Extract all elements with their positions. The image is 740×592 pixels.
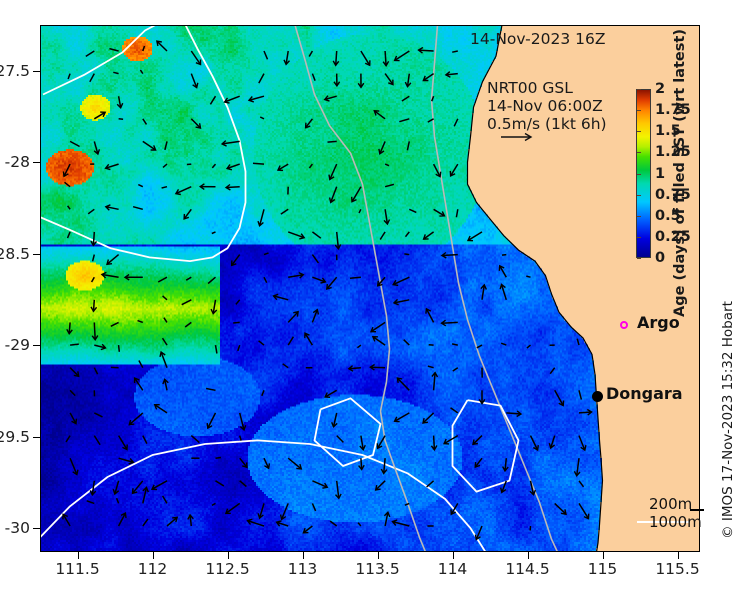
x-tick-label: 113 [288,560,318,578]
colorbar-tick [637,258,641,259]
date-stamp-label: 14-Nov-2023 16Z [470,30,605,48]
product-time-label: 14-Nov 06:00Z [487,97,603,115]
x-tick [228,552,229,559]
y-tick [33,162,40,163]
y-tick [33,437,40,438]
y-tick-label: -28 [5,153,30,171]
colorbar-tick [637,195,641,196]
figure-canvas: 14-Nov-2023 16Z NRT00 GSL 14-Nov 06:00Z … [0,0,740,592]
x-tick [78,552,79,559]
colorbar-tick [637,131,641,132]
x-tick-label: 112 [138,560,168,578]
colorbar-tick [637,89,641,90]
x-tick-label: 114 [438,560,468,578]
colorbar-title: Age (days) of filled SST (wrt latest) [672,29,688,317]
colorbar-tick [637,110,641,111]
colorbar-tick [637,152,641,153]
colorbar-tick [637,216,641,217]
dongara-marker-icon [592,391,603,402]
x-tick-label: 114.5 [505,560,549,578]
y-tick [33,254,40,255]
colorbar-tick [637,237,641,238]
y-tick [33,528,40,529]
dongara-legend-label: Dongara [606,384,683,403]
x-tick [603,552,604,559]
depth-200m-label: 200m [649,495,692,513]
copyright-credit: © IMOS 17-Nov-2023 15:32 Hobart [720,301,736,539]
y-tick-label: -28.5 [0,245,30,263]
y-tick-label: -27.5 [0,62,30,80]
y-tick-label: -29 [5,336,30,354]
y-tick-label: -30 [5,519,30,537]
x-tick [303,552,304,559]
y-tick [33,71,40,72]
argo-legend-label: Argo [637,313,680,332]
x-tick-label: 115 [588,560,618,578]
y-tick-label: -29.5 [0,428,30,446]
x-tick-label: 112.5 [205,560,249,578]
x-tick [378,552,379,559]
x-tick-label: 111.5 [55,560,99,578]
x-tick-label: 113.5 [355,560,399,578]
colorbar-tick [637,174,641,175]
right-arrow-icon [500,132,534,142]
colorbar-tick-label: 2 [655,81,665,97]
product-name-label: NRT00 GSL [487,79,573,97]
vector-scale-label: 0.5m/s (1kt 6h) [487,115,607,133]
colorbar-tick-label: 0 [655,250,665,266]
x-tick [153,552,154,559]
depth-1000m-line-icon [690,509,704,511]
argo-marker-icon [620,321,628,329]
depth-1000m-label: 1000m [649,513,702,531]
x-tick-label: 115.5 [655,560,699,578]
y-tick [33,345,40,346]
colorbar-tick-label: 1 [655,166,665,182]
x-tick [678,552,679,559]
x-tick [528,552,529,559]
x-tick [453,552,454,559]
